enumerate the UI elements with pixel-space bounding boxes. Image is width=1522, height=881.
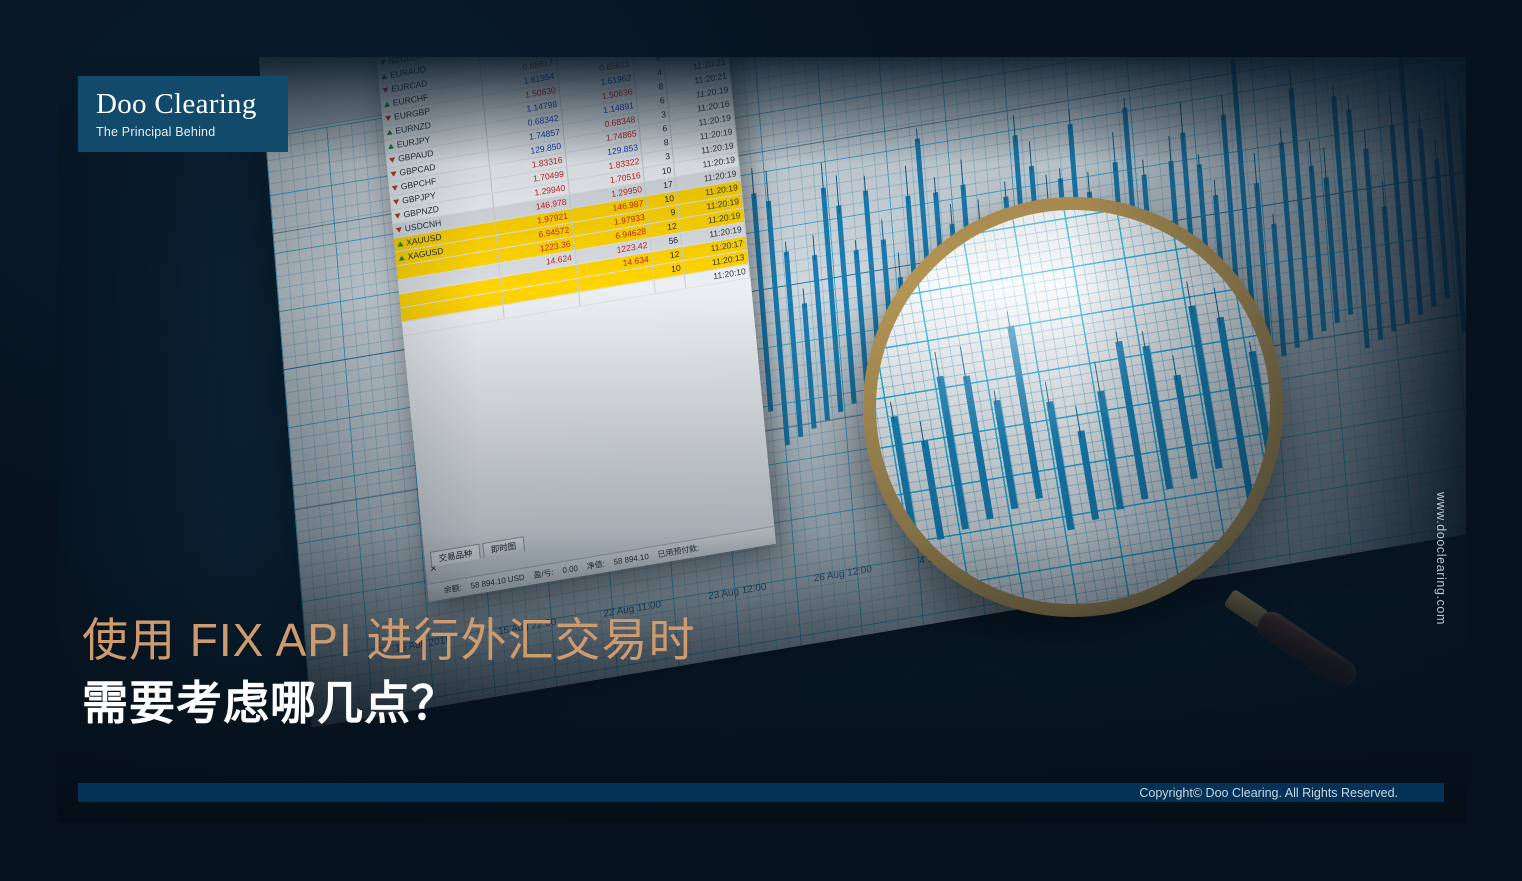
market-watch-window[interactable]: USDJPY130.273130.805311:20:21NZDUSD0.997… xyxy=(375,57,776,602)
candle xyxy=(1046,401,1074,530)
page-title: 使用 FIX API 进行外汇交易时 需要考虑哪几点？ xyxy=(82,612,696,733)
candle xyxy=(1434,159,1450,299)
footer-bar: Copyright© Doo Clearing. All Rights Rese… xyxy=(78,783,1444,802)
direction-arrow-icon xyxy=(392,185,398,191)
candle xyxy=(1382,206,1397,332)
candle xyxy=(937,376,969,530)
tab-tickchart[interactable]: 即时图 xyxy=(482,536,524,558)
direction-arrow-icon xyxy=(396,227,402,233)
equity-value: 58 894.10 xyxy=(613,552,649,567)
direction-arrow-icon xyxy=(389,157,395,163)
candle xyxy=(1142,345,1173,489)
direction-arrow-icon xyxy=(399,255,405,261)
brand-name: Doo Clearing xyxy=(96,89,288,119)
candle xyxy=(1271,223,1286,356)
candle xyxy=(802,303,817,429)
direction-arrow-icon xyxy=(390,171,396,177)
direction-arrow-icon xyxy=(394,213,400,219)
brand-tagline: The Principal Behind xyxy=(96,125,288,139)
direction-arrow-icon xyxy=(381,73,387,79)
tab-symbols[interactable]: 交易品种 xyxy=(430,544,481,567)
candle xyxy=(1174,375,1198,480)
candle xyxy=(1115,341,1148,500)
candle xyxy=(1324,177,1340,323)
balance-label: 余额: xyxy=(443,582,462,596)
market-watch-tabs[interactable]: 交易品种 即时图 xyxy=(430,536,525,567)
pl-value: 0.00 xyxy=(562,564,578,576)
equity-label: 净值: xyxy=(586,558,605,572)
candle xyxy=(963,375,994,519)
candle xyxy=(891,416,920,550)
magnifying-glass xyxy=(863,197,1283,617)
candle xyxy=(993,400,1018,510)
website-url[interactable]: www.dooclearing.com xyxy=(1434,492,1448,625)
direction-arrow-icon xyxy=(388,143,394,149)
direction-arrow-icon xyxy=(385,115,391,121)
direction-arrow-icon xyxy=(386,129,392,135)
direction-arrow-icon xyxy=(382,87,388,93)
direction-arrow-icon xyxy=(380,59,386,65)
brand-logo[interactable]: Doo Clearing The Principal Behind xyxy=(78,76,288,152)
copyright-text: Copyright© Doo Clearing. All Rights Rese… xyxy=(1139,786,1398,800)
candle xyxy=(1097,390,1124,510)
headline-line-1: 使用 FIX API 进行外汇交易时 xyxy=(82,612,696,668)
candle xyxy=(921,440,944,540)
direction-arrow-icon xyxy=(397,241,403,247)
headline-line-2: 需要考虑哪几点？ xyxy=(82,674,696,733)
candle xyxy=(1188,305,1222,469)
candle xyxy=(1077,430,1099,520)
pl-label: 盈/亏: xyxy=(533,567,554,581)
market-watch-table: USDJPY130.273130.805311:20:21NZDUSD0.997… xyxy=(375,57,750,336)
direction-arrow-icon xyxy=(384,101,390,107)
direction-arrow-icon xyxy=(393,199,399,205)
banner-canvas: ▾ ▾ ▾ 1.15434 1.15608 1.11057 1.15094 xyxy=(0,0,1522,881)
